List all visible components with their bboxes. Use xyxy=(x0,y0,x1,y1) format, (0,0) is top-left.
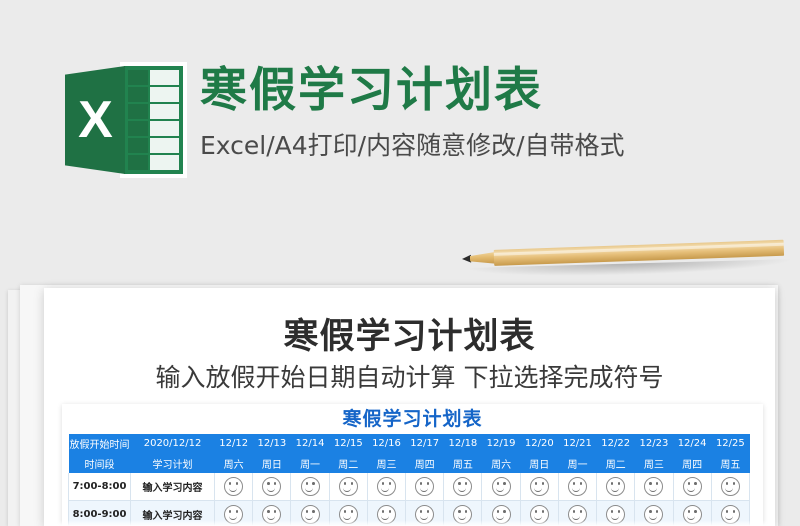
status-cell[interactable] xyxy=(520,473,558,501)
column-header-plan: 学习计划 xyxy=(131,453,215,473)
smiley-face-icon xyxy=(224,477,243,496)
banner-subtitle: Excel/A4打印/内容随意修改/自带格式 xyxy=(200,126,780,162)
weekday-header-cell: 周日 xyxy=(520,453,558,473)
weekday-header-cell: 周六 xyxy=(215,453,253,473)
smiley-face-icon xyxy=(453,477,472,496)
weekday-header-cell: 周二 xyxy=(329,453,367,473)
date-header-cell: 12/24 xyxy=(673,434,711,453)
smiley-face-icon xyxy=(377,477,396,496)
pencil-wood-cone xyxy=(470,252,496,265)
status-cell[interactable] xyxy=(635,473,673,501)
smiley-face-icon xyxy=(606,477,625,496)
table-header-weekdays: 时间段 学习计划 周六周日周一周二周三周四周五周六周日周一周二周三周四周五 xyxy=(69,453,750,473)
weekday-header-cell: 周二 xyxy=(597,453,635,473)
banner-title: 寒假学习计划表 xyxy=(200,64,780,119)
date-header-cell: 12/17 xyxy=(406,434,444,453)
weekday-header-cell: 周四 xyxy=(406,453,444,473)
promo-banner: X 寒假学习计划表 Excel/A4打印/内容随意修改/自带格式 xyxy=(0,0,800,240)
status-cell[interactable] xyxy=(291,473,329,501)
schedule-table: 放假开始时间 2020/12/12 12/1212/1312/1412/1512… xyxy=(68,434,750,526)
smiley-face-icon xyxy=(492,477,511,496)
weekday-header-cell: 周五 xyxy=(444,453,482,473)
pencil-tip xyxy=(462,255,471,263)
weekday-header-cell: 周三 xyxy=(635,453,673,473)
weekday-header-cell: 周一 xyxy=(558,453,596,473)
status-cell[interactable] xyxy=(367,473,405,501)
row-plan-cell[interactable]: 输入学习内容 xyxy=(131,473,215,501)
excel-logo-icon: X xyxy=(65,62,187,178)
date-header-cell: 12/16 xyxy=(367,434,405,453)
column-header-time: 时间段 xyxy=(69,453,131,473)
smiley-face-icon xyxy=(568,477,587,496)
weekday-header-cell: 周五 xyxy=(711,453,749,473)
smiley-face-icon xyxy=(683,477,702,496)
status-cell[interactable] xyxy=(253,473,291,501)
smiley-face-icon xyxy=(415,477,434,496)
date-header-cell: 12/22 xyxy=(597,434,635,453)
status-cell[interactable] xyxy=(673,473,711,501)
date-header-cell: 12/12 xyxy=(215,434,253,453)
banner-text-block: 寒假学习计划表 Excel/A4打印/内容随意修改/自带格式 xyxy=(200,64,780,162)
document-preview-card: 寒假学习计划表 输入放假开始日期自动计算 下拉选择完成符号 寒假学习计划表 放假… xyxy=(44,288,775,526)
document-title: 寒假学习计划表 xyxy=(44,308,775,359)
spreadsheet-preview: 寒假学习计划表 放假开始时间 2020/12/12 12/1212/1312/1… xyxy=(62,404,763,526)
date-header-cell: 12/23 xyxy=(635,434,673,453)
smiley-face-icon xyxy=(339,477,358,496)
status-cell[interactable] xyxy=(444,473,482,501)
date-header-cell: 12/25 xyxy=(711,434,749,453)
status-cell[interactable] xyxy=(558,473,596,501)
weekday-header-cell: 周一 xyxy=(291,453,329,473)
status-cell[interactable] xyxy=(329,473,367,501)
date-header-cell: 12/21 xyxy=(558,434,596,453)
document-subtitle: 输入放假开始日期自动计算 下拉选择完成符号 xyxy=(44,358,775,394)
smiley-face-icon xyxy=(721,477,740,496)
smiley-face-icon xyxy=(530,477,549,496)
status-cell[interactable] xyxy=(482,473,520,501)
start-date-label: 放假开始时间 xyxy=(69,434,131,453)
status-cell[interactable] xyxy=(597,473,635,501)
start-date-value[interactable]: 2020/12/12 xyxy=(131,434,215,453)
smiley-face-icon xyxy=(301,477,320,496)
smiley-face-icon xyxy=(262,477,281,496)
date-header-cell: 12/13 xyxy=(253,434,291,453)
table-header-dates: 放假开始时间 2020/12/12 12/1212/1312/1412/1512… xyxy=(69,434,750,453)
date-header-cell: 12/15 xyxy=(329,434,367,453)
spreadsheet-title: 寒假学习计划表 xyxy=(62,404,763,434)
status-cell[interactable] xyxy=(406,473,444,501)
status-cell[interactable] xyxy=(711,473,749,501)
excel-logo-letter: X xyxy=(65,66,125,174)
date-header-cell: 12/20 xyxy=(520,434,558,453)
date-header-cell: 12/19 xyxy=(482,434,520,453)
status-cell[interactable] xyxy=(215,473,253,501)
date-header-cell: 12/18 xyxy=(444,434,482,453)
excel-logo-grid xyxy=(120,62,187,178)
bottom-fade xyxy=(44,520,775,526)
weekday-header-cell: 周三 xyxy=(367,453,405,473)
row-time-cell[interactable]: 7:00-8:00 xyxy=(69,473,131,501)
table-row: 7:00-8:00输入学习内容 xyxy=(69,473,750,501)
weekday-header-cell: 周六 xyxy=(482,453,520,473)
weekday-header-cell: 周四 xyxy=(673,453,711,473)
schedule-table-body: 放假开始时间 2020/12/12 12/1212/1312/1412/1512… xyxy=(69,434,750,526)
smiley-face-icon xyxy=(644,477,663,496)
weekday-header-cell: 周日 xyxy=(253,453,291,473)
date-header-cell: 12/14 xyxy=(291,434,329,453)
